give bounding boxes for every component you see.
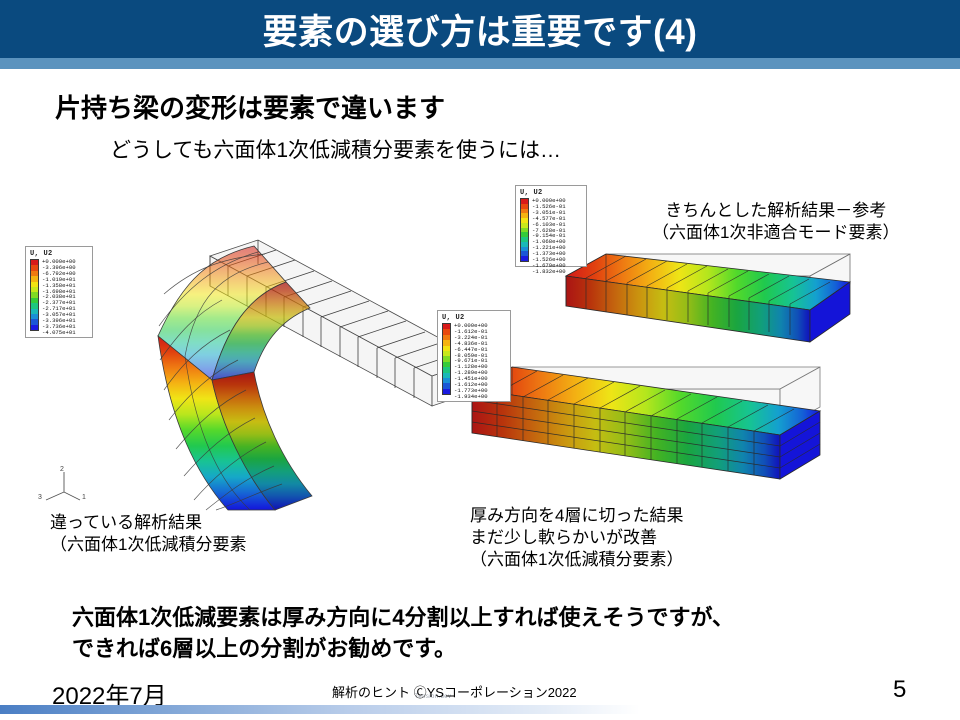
page-title: 要素の選び方は重要です(4) <box>0 2 960 56</box>
annotation-bottom-middle-line-2: まだ少し軟らかいが改善 <box>470 527 683 549</box>
contour-legend-left: U, U2 +0.000e+00-3.396e+00-6.792e+00-1.0… <box>25 246 93 338</box>
subtitle-primary: 片持ち梁の変形は要素で違います <box>55 88 445 125</box>
annotation-bottom-left-line-2: （六面体1次低減積分要素 <box>50 534 246 556</box>
axis-triad-icon: 2 3 1 <box>38 466 90 512</box>
footer-copyright: 解析のヒント ⒸYSコーポレーション2022 <box>332 682 577 701</box>
axis-label-3: 3 <box>38 494 42 501</box>
conclusion-line-2: できれば6層以上の分割がお勧めです。 <box>72 633 734 664</box>
legend-swatch-12 <box>443 389 450 394</box>
footer-page-number: 5 <box>893 676 906 704</box>
legend-title: U, U2 <box>442 314 507 322</box>
fe-model-incompatible-mode <box>548 238 878 368</box>
annotation-top-right-line-1: きちんとした解析結果－参考 <box>652 200 899 222</box>
fe-model-four-layer <box>450 355 870 490</box>
conclusion-text: 六面体1次低減要素は厚み方向に4分割以上すれば使えそうですが、 できれば6層以上… <box>72 602 734 664</box>
fe-model-deformed-cantilever: Tension.dev <box>150 238 450 528</box>
contour-legend-top-right: U, U2 +0.000e+00-1.526e-01-3.051e-01-4.5… <box>515 185 587 267</box>
legend-values: +0.000e+00-1.612e-01-3.224e-01-4.836e-01… <box>454 323 488 400</box>
conclusion-line-1: 六面体1次低減要素は厚み方向に4分割以上すれば使えそうですが、 <box>72 602 734 633</box>
annotation-bottom-middle-line-1: 厚み方向を4層に切った結果 <box>470 505 683 527</box>
footer-gradient-bar <box>0 705 640 714</box>
legend-color-swatches <box>30 259 39 331</box>
contour-legend-middle: U, U2 +0.000e+00-1.612e-01-3.224e-01-4.8… <box>437 310 511 402</box>
legend-value-12: -1.934e+00 <box>454 394 488 400</box>
annotation-top-right-line-2: （六面体1次非適合モード要素） <box>652 222 899 244</box>
legend-title: U, U2 <box>520 189 583 197</box>
axis-label-2: 2 <box>60 466 64 473</box>
legend-values: +0.000e+00-1.526e-01-3.051e-01-4.577e-01… <box>532 198 566 275</box>
legend-title: U, U2 <box>30 250 89 258</box>
subtitle-secondary: どうしても六面体1次低減積分要素を使うには… <box>110 134 561 164</box>
legend-swatch-12 <box>31 325 38 330</box>
annotation-bottom-left-line-1: 違っている解析結果 <box>50 512 246 534</box>
legend-swatch-12 <box>521 256 528 261</box>
legend-value-12: -1.832e+00 <box>532 269 566 275</box>
legend-color-swatches <box>520 198 529 262</box>
annotation-bottom-left: 違っている解析結果 （六面体1次低減積分要素 <box>50 512 246 556</box>
title-accent-bar <box>0 58 960 69</box>
legend-value-12: -4.075e+01 <box>42 330 76 336</box>
annotation-bottom-middle: 厚み方向を4層に切った結果 まだ少し軟らかいが改善 （六面体1次低減積分要素） <box>470 505 683 570</box>
annotation-bottom-middle-line-3: （六面体1次低減積分要素） <box>470 549 683 571</box>
legend-color-swatches <box>442 323 451 395</box>
axis-label-1: 1 <box>82 494 86 501</box>
annotation-top-right: きちんとした解析結果－参考 （六面体1次非適合モード要素） <box>652 200 899 244</box>
slide-root: 要素の選び方は重要です(4) 片持ち梁の変形は要素で違います どうしても六面体1… <box>0 0 960 720</box>
legend-values: +0.000e+00-3.396e+00-6.792e+00-1.019e+01… <box>42 259 76 336</box>
